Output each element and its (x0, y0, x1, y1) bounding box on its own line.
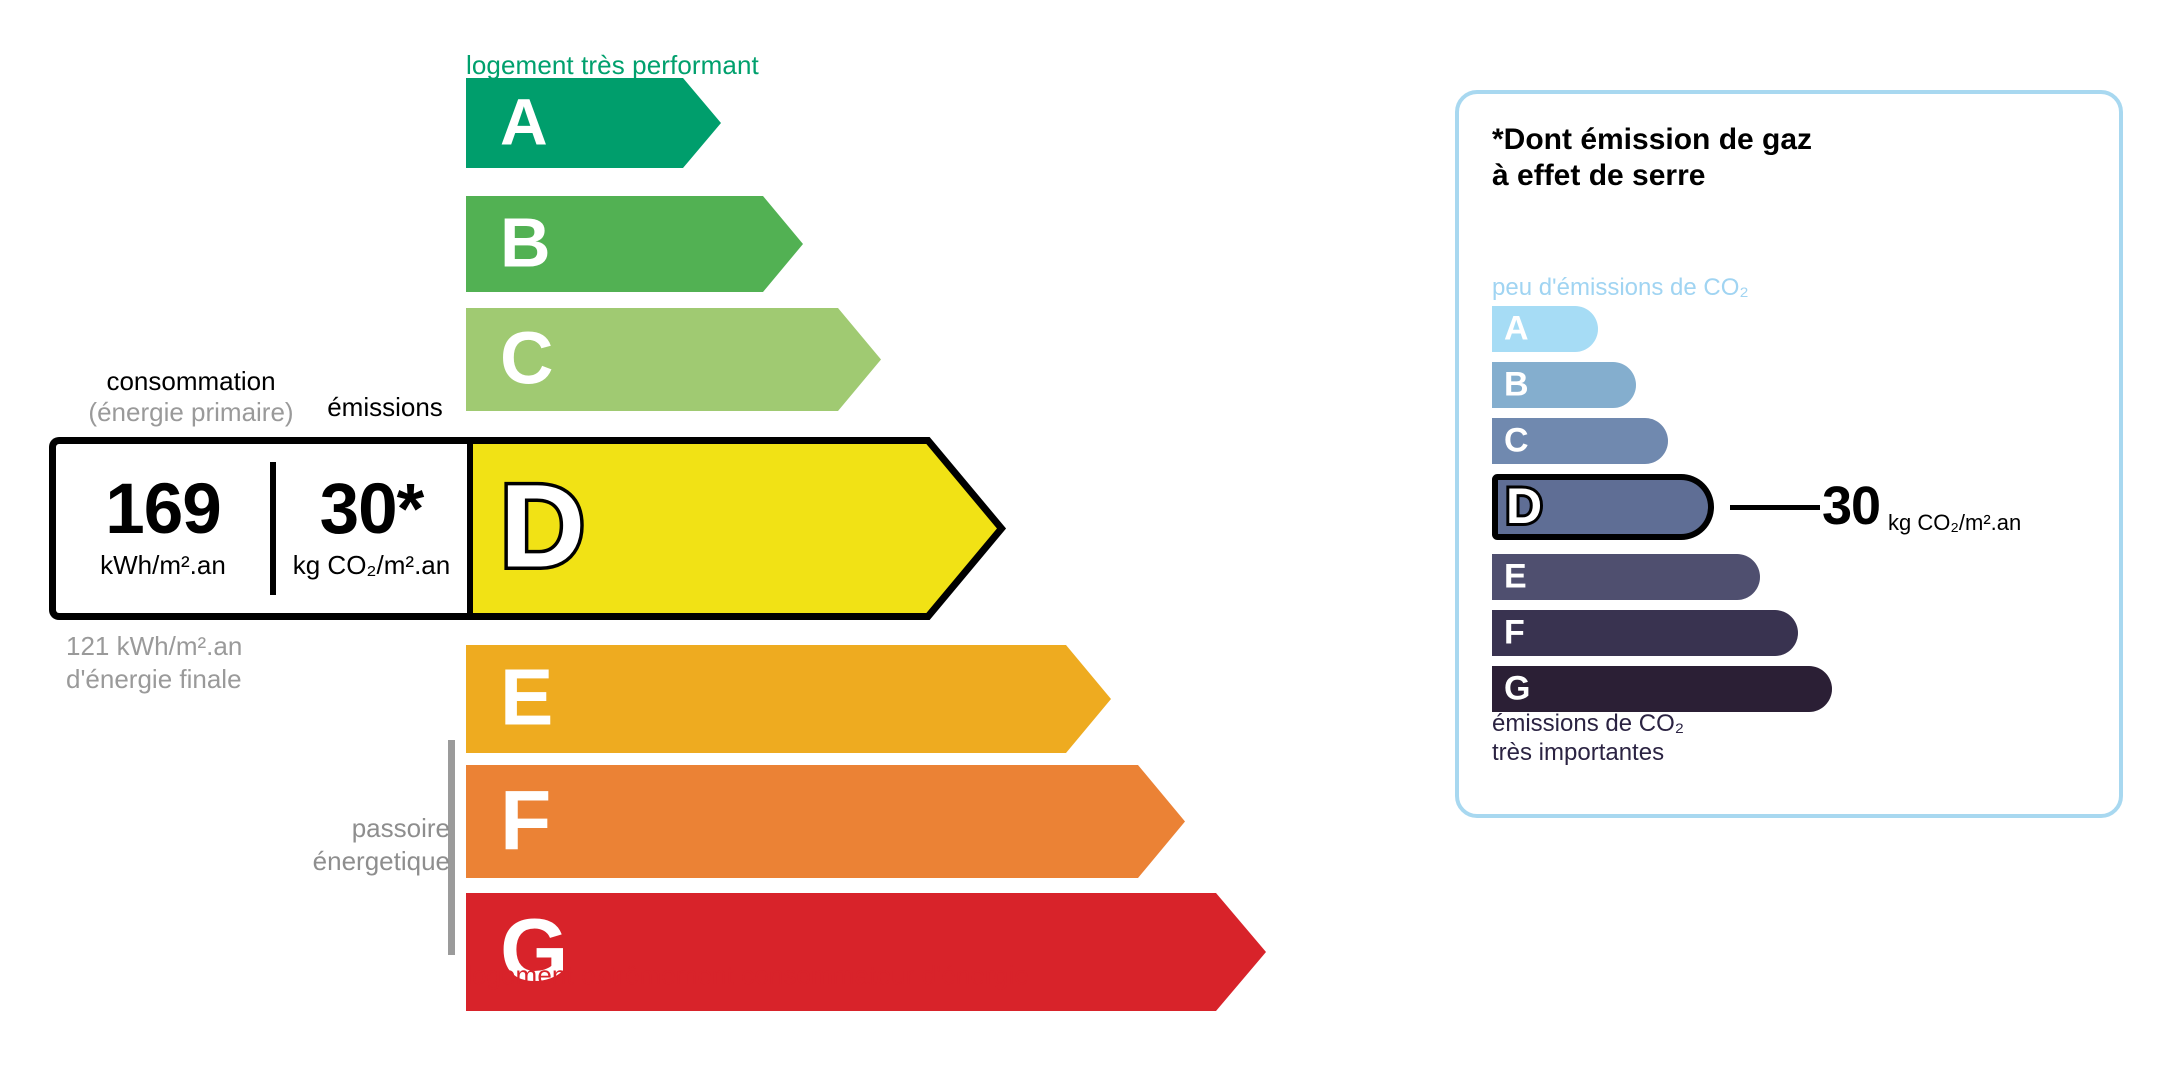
emissions-unit: kg CO₂/m².an (293, 550, 450, 581)
co2-bar-letter-b: B (1504, 367, 1529, 401)
co2-panel-title-line2: à effet de serre (1492, 158, 1812, 194)
dpe-label: logement très performant ABCDEFG logemen… (0, 0, 2169, 1079)
value-readout-box: 169 kWh/m².an 30* kg CO₂/m².an (49, 437, 467, 620)
co2-scale-high-caption-line2: très importantes (1492, 738, 1684, 767)
passoire-label-line2: énergetique (225, 845, 450, 878)
energy-scale-low-caption: logement très performant (466, 50, 759, 81)
energy-performance-panel: logement très performant ABCDEFG logemen… (0, 0, 1400, 1079)
co2-scale-high-caption-line1: émissions de CO₂ (1492, 709, 1684, 738)
co2-bar-f (1492, 610, 1798, 656)
energy-band-d: D (466, 437, 1005, 620)
final-energy-note: 121 kWh/m².an d'énergie finale (66, 630, 242, 695)
final-energy-value: 121 kWh/m².an (66, 630, 242, 663)
co2-scale-low-caption: peu d'émissions de CO₂ (1492, 274, 1749, 302)
co2-bar-row-a: A (1492, 306, 1598, 352)
consumption-caption-sub: (énergie primaire) (66, 397, 316, 428)
energy-band-c: C (466, 308, 881, 411)
energy-band-letter-b: B (500, 208, 551, 278)
co2-bar-row-d: D (1492, 474, 1714, 540)
co2-bar-letter-c: C (1504, 423, 1529, 457)
co2-bar-row-c: C (1492, 418, 1668, 464)
co2-bar-letter-g: G (1504, 671, 1530, 705)
co2-bar-letter-e: E (1504, 559, 1527, 593)
energy-scale-high-caption: logement extrêmement consommateur d'éner… (466, 960, 1029, 991)
consumption-caption-main: consommation (66, 366, 316, 397)
energy-band-f: F (466, 765, 1185, 878)
co2-emissions-panel: *Dont émission de gaz à effet de serre p… (1455, 90, 2123, 818)
energy-band-letter-c: C (500, 321, 553, 395)
emissions-caption: émissions (300, 392, 470, 423)
co2-callout-unit: kg CO₂/m².an (1888, 512, 2021, 534)
consumption-caption: consommation (énergie primaire) (66, 366, 316, 427)
co2-bar-row-e: E (1492, 554, 1760, 600)
energy-band-letter-f: F (500, 778, 551, 862)
emissions-value-cell: 30* kg CO₂/m².an (276, 444, 467, 613)
co2-bar-row-f: F (1492, 610, 1798, 656)
passoire-label: passoire énergetique (225, 812, 450, 877)
energy-band-shape-e (466, 645, 1111, 753)
co2-bar-row-g: G (1492, 666, 1832, 712)
energy-band-letter-d: D (500, 467, 585, 585)
co2-bar-letter-a: A (1504, 311, 1529, 345)
co2-bar-row-b: B (1492, 362, 1636, 408)
energy-band-shape-f (466, 765, 1185, 878)
final-energy-text: d'énergie finale (66, 663, 242, 696)
co2-bar-letter-f: F (1504, 615, 1525, 649)
energy-band-letter-e: E (500, 657, 553, 737)
emissions-value: 30* (320, 476, 424, 543)
energy-band-letter-a: A (500, 89, 548, 155)
co2-panel-title: *Dont émission de gaz à effet de serre (1492, 122, 1812, 194)
co2-callout-leader-line (1730, 505, 1820, 510)
energy-band-a: A (466, 78, 721, 168)
consumption-value: 169 (105, 476, 220, 543)
co2-bar-e (1492, 554, 1760, 600)
co2-bar-letter-d: D (1506, 481, 1542, 531)
energy-band-b: B (466, 196, 803, 292)
energy-band-shape-g (466, 893, 1266, 1011)
co2-scale-high-caption: émissions de CO₂ très importantes (1492, 709, 1684, 768)
co2-panel-title-line1: *Dont émission de gaz (1492, 122, 1812, 158)
co2-callout-value: 30 (1822, 479, 1880, 533)
passoire-label-line1: passoire (225, 812, 450, 845)
consumption-unit: kWh/m².an (100, 550, 226, 581)
energy-band-g: G (466, 893, 1266, 1011)
energy-band-e: E (466, 645, 1111, 753)
consumption-value-cell: 169 kWh/m².an (56, 444, 270, 613)
co2-bar-g (1492, 666, 1832, 712)
